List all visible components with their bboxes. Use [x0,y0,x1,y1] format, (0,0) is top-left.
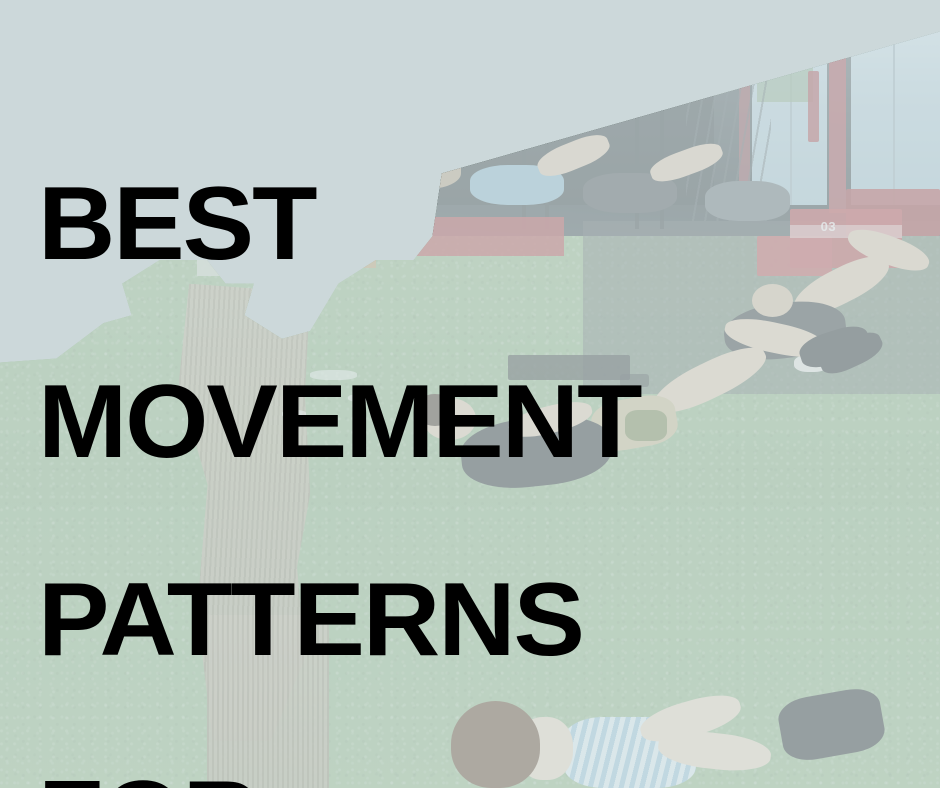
headline-line-2: MOVEMENT [38,373,821,472]
header-graphic: 03 [0,0,940,788]
rig-beam [517,43,667,47]
page-title: BEST MOVEMENT PATTERNS FOR YOUTH ATHLETE… [38,76,821,788]
headline-line-3: PATTERNS [38,571,821,670]
headline-line-4: FOR [38,769,821,788]
headline-line-1: BEST [38,175,821,274]
